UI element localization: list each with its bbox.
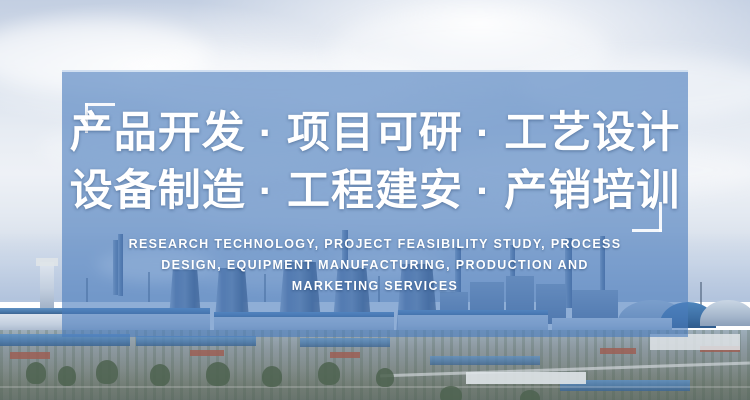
subtitle-line-2: DESIGN, EQUIPMENT MANUFACTURING, PRODUCT…: [105, 255, 645, 276]
subtitle-line-3: MARKETING SERVICES: [105, 276, 645, 297]
foreground-building: [466, 372, 586, 384]
tree: [206, 362, 230, 386]
foreground-red-roof: [330, 352, 360, 358]
bracket-horizontal-bar: [632, 229, 662, 232]
headline-line-1: 产品开发 · 项目可研 · 工艺设计: [62, 104, 688, 162]
arched-warehouse: [700, 300, 750, 326]
tree: [376, 368, 394, 387]
tree: [150, 364, 170, 386]
tree: [262, 366, 282, 387]
foreground-red-roof: [190, 350, 224, 356]
tree: [96, 360, 118, 384]
subtitle-line-1: RESEARCH TECHNOLOGY, PROJECT FEASIBILITY…: [105, 234, 645, 255]
control-tower-cap: [36, 258, 58, 266]
power-pylon: [700, 282, 702, 306]
foreground-blue-roof: [136, 336, 256, 346]
control-tower: [40, 262, 54, 310]
foreground-blue-roof: [300, 338, 390, 347]
tree: [520, 390, 540, 400]
tree: [318, 362, 340, 385]
headline-line-2: 设备制造 · 工程建安 · 产销培训: [62, 162, 688, 220]
headline: 产品开发 · 项目可研 · 工艺设计 设备制造 · 工程建安 · 产销培训: [62, 104, 688, 220]
subtitle: RESEARCH TECHNOLOGY, PROJECT FEASIBILITY…: [105, 234, 645, 297]
tree: [58, 366, 76, 386]
foreground-red-roof: [10, 352, 50, 359]
tree: [440, 386, 462, 400]
promo-banner: 产品开发 · 项目可研 · 工艺设计 设备制造 · 工程建安 · 产销培训 RE…: [0, 0, 750, 400]
foreground-blue-roof: [430, 356, 540, 365]
foreground-red-roof: [600, 348, 636, 354]
road-line: [0, 386, 750, 388]
tree: [26, 362, 46, 384]
